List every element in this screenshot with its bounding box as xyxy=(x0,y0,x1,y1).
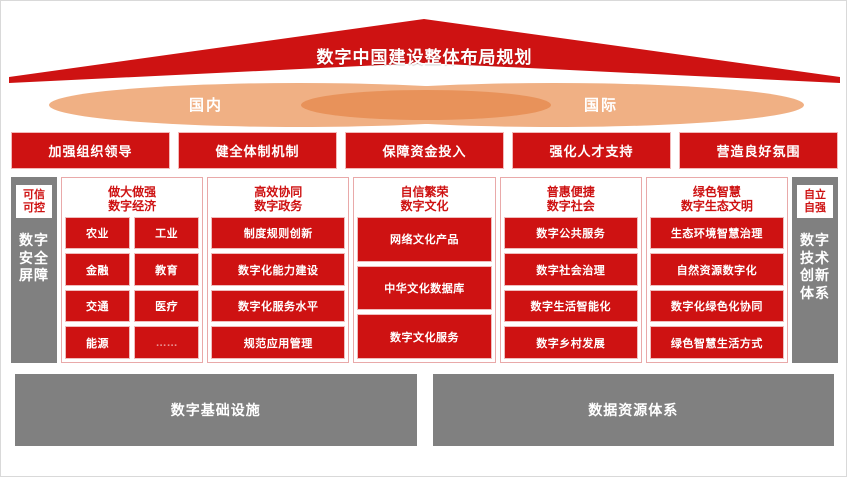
column-header: 绿色智慧 数字生态文明 xyxy=(650,181,784,217)
roof-title: 数字中国建设整体布局规划 xyxy=(9,43,840,68)
scope-band: 国内 国际 xyxy=(9,81,840,129)
column-item[interactable]: 工业 xyxy=(134,217,199,250)
column-item[interactable]: 数字乡村发展 xyxy=(504,326,638,359)
column-items: 农业 工业 金融 教育 交通 医疗 能源 …… xyxy=(65,217,199,359)
left-pillar-label: 数字 安全 屏障 xyxy=(15,232,53,285)
pillar-columns: 做大做强 数字经济 农业 工业 金融 教育 交通 医疗 能源 …… 高效协同 数… xyxy=(61,177,788,363)
measure-item[interactable]: 加强组织领导 xyxy=(11,132,170,169)
scope-label-domestic: 国内 xyxy=(189,94,223,115)
measure-item[interactable]: 保障资金投入 xyxy=(345,132,504,169)
left-pillar-chip: 可信 可控 xyxy=(16,185,52,218)
diagram-canvas: 数字中国建设整体布局规划 国内 国际 加强组织领导 健全体制机制 保障资金投入 … xyxy=(0,0,847,477)
column-header: 自信繁荣 数字文化 xyxy=(357,181,491,217)
column-items: 数字公共服务 数字社会治理 数字生活智能化 数字乡村发展 xyxy=(504,217,638,359)
column-item[interactable]: 制度规则创新 xyxy=(211,217,345,250)
column-item[interactable]: 规范应用管理 xyxy=(211,326,345,359)
column-digital-society[interactable]: 普惠便捷 数字社会 数字公共服务 数字社会治理 数字生活智能化 数字乡村发展 xyxy=(500,177,642,363)
column-digital-government[interactable]: 高效协同 数字政务 制度规则创新 数字化能力建设 数字化服务水平 规范应用管理 xyxy=(207,177,349,363)
column-digital-economy[interactable]: 做大做强 数字经济 农业 工业 金融 教育 交通 医疗 能源 …… xyxy=(61,177,203,363)
overlapping-ellipses-icon xyxy=(9,81,840,129)
column-items: 生态环境智慧治理 自然资源数字化 数字化绿色化协同 绿色智慧生活方式 xyxy=(650,217,784,359)
column-item[interactable]: 数字生活智能化 xyxy=(504,290,638,323)
column-item[interactable]: 教育 xyxy=(134,253,199,286)
column-item[interactable]: 数字公共服务 xyxy=(504,217,638,250)
column-item[interactable]: 生态环境智慧治理 xyxy=(650,217,784,250)
foundation-row: 数字基础设施 数据资源体系 xyxy=(15,374,834,446)
column-item[interactable]: 中华文化数据库 xyxy=(357,266,491,311)
measure-item[interactable]: 营造良好氛围 xyxy=(679,132,838,169)
column-item[interactable]: 网络文化产品 xyxy=(357,217,491,262)
measures-row: 加强组织领导 健全体制机制 保障资金投入 强化人才支持 营造良好氛围 xyxy=(11,132,838,169)
scope-label-international: 国际 xyxy=(584,94,618,115)
column-digital-eco-civilization[interactable]: 绿色智慧 数字生态文明 生态环境智慧治理 自然资源数字化 数字化绿色化协同 绿色… xyxy=(646,177,788,363)
right-pillar-chip: 自立 自强 xyxy=(797,185,833,218)
measure-item[interactable]: 强化人才支持 xyxy=(512,132,671,169)
column-items: 网络文化产品 中华文化数据库 数字文化服务 xyxy=(357,217,491,359)
column-items: 制度规则创新 数字化能力建设 数字化服务水平 规范应用管理 xyxy=(211,217,345,359)
column-digital-culture[interactable]: 自信繁荣 数字文化 网络文化产品 中华文化数据库 数字文化服务 xyxy=(353,177,495,363)
column-item[interactable]: 数字文化服务 xyxy=(357,314,491,359)
column-item[interactable]: 医疗 xyxy=(134,290,199,323)
column-item-ellipsis[interactable]: …… xyxy=(134,326,199,359)
column-item[interactable]: 绿色智慧生活方式 xyxy=(650,326,784,359)
column-item[interactable]: 数字化能力建设 xyxy=(211,253,345,286)
column-header: 做大做强 数字经济 xyxy=(65,181,199,217)
column-item[interactable]: 自然资源数字化 xyxy=(650,253,784,286)
column-item[interactable]: 交通 xyxy=(65,290,130,323)
column-item[interactable]: 能源 xyxy=(65,326,130,359)
roof-shape: 数字中国建设整体布局规划 xyxy=(9,15,840,83)
foundation-bar-infrastructure[interactable]: 数字基础设施 xyxy=(15,374,417,446)
right-pillar-label: 数字 技术 创新 体系 xyxy=(796,232,834,302)
column-header: 普惠便捷 数字社会 xyxy=(504,181,638,217)
left-pillar-digital-security[interactable]: 可信 可控 数字 安全 屏障 xyxy=(11,177,57,363)
column-header: 高效协同 数字政务 xyxy=(211,181,345,217)
column-item[interactable]: 农业 xyxy=(65,217,130,250)
column-item[interactable]: 数字社会治理 xyxy=(504,253,638,286)
column-item[interactable]: 数字化服务水平 xyxy=(211,290,345,323)
measure-item[interactable]: 健全体制机制 xyxy=(178,132,337,169)
column-item[interactable]: 数字化绿色化协同 xyxy=(650,290,784,323)
foundation-bar-data-resources[interactable]: 数据资源体系 xyxy=(433,374,835,446)
body-row: 可信 可控 数字 安全 屏障 做大做强 数字经济 农业 工业 金融 教育 交通 … xyxy=(11,177,838,363)
right-pillar-tech-innovation[interactable]: 自立 自强 数字 技术 创新 体系 xyxy=(792,177,838,363)
column-item[interactable]: 金融 xyxy=(65,253,130,286)
